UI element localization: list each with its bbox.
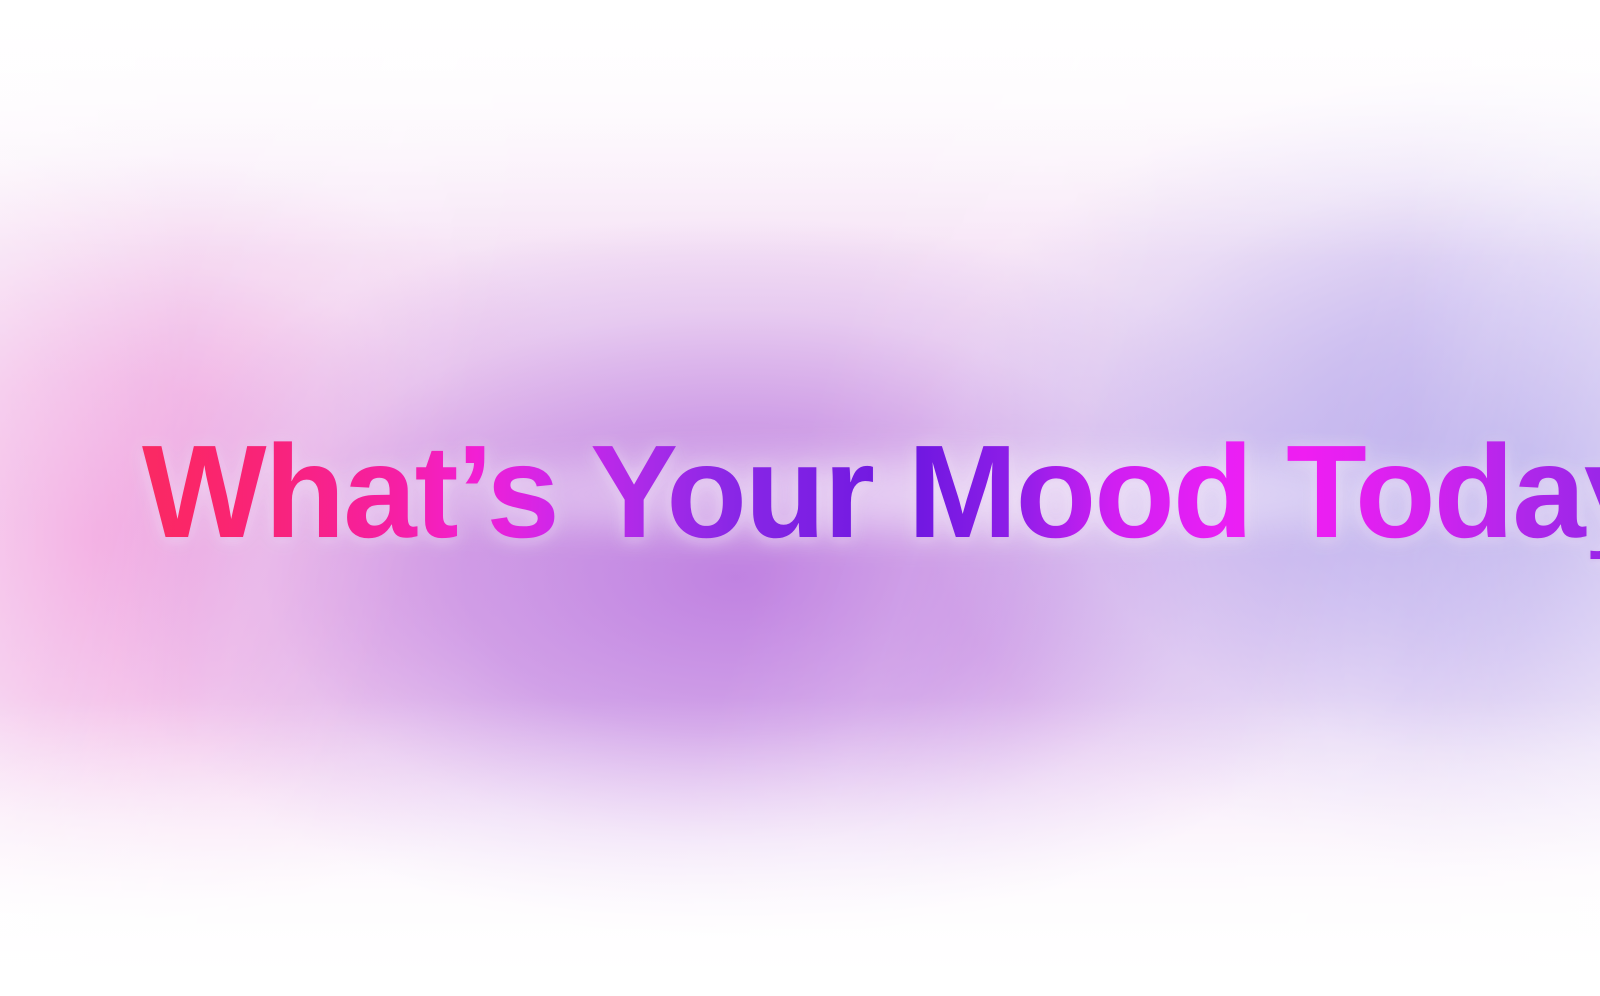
headline-container: What’s Your Mood Today? [0, 0, 1600, 996]
hero-stage: What’s Your Mood Today? [0, 0, 1600, 996]
page-title: What’s Your Mood Today? [142, 425, 1600, 560]
headline-inner: What’s Your Mood Today? [142, 425, 1600, 560]
